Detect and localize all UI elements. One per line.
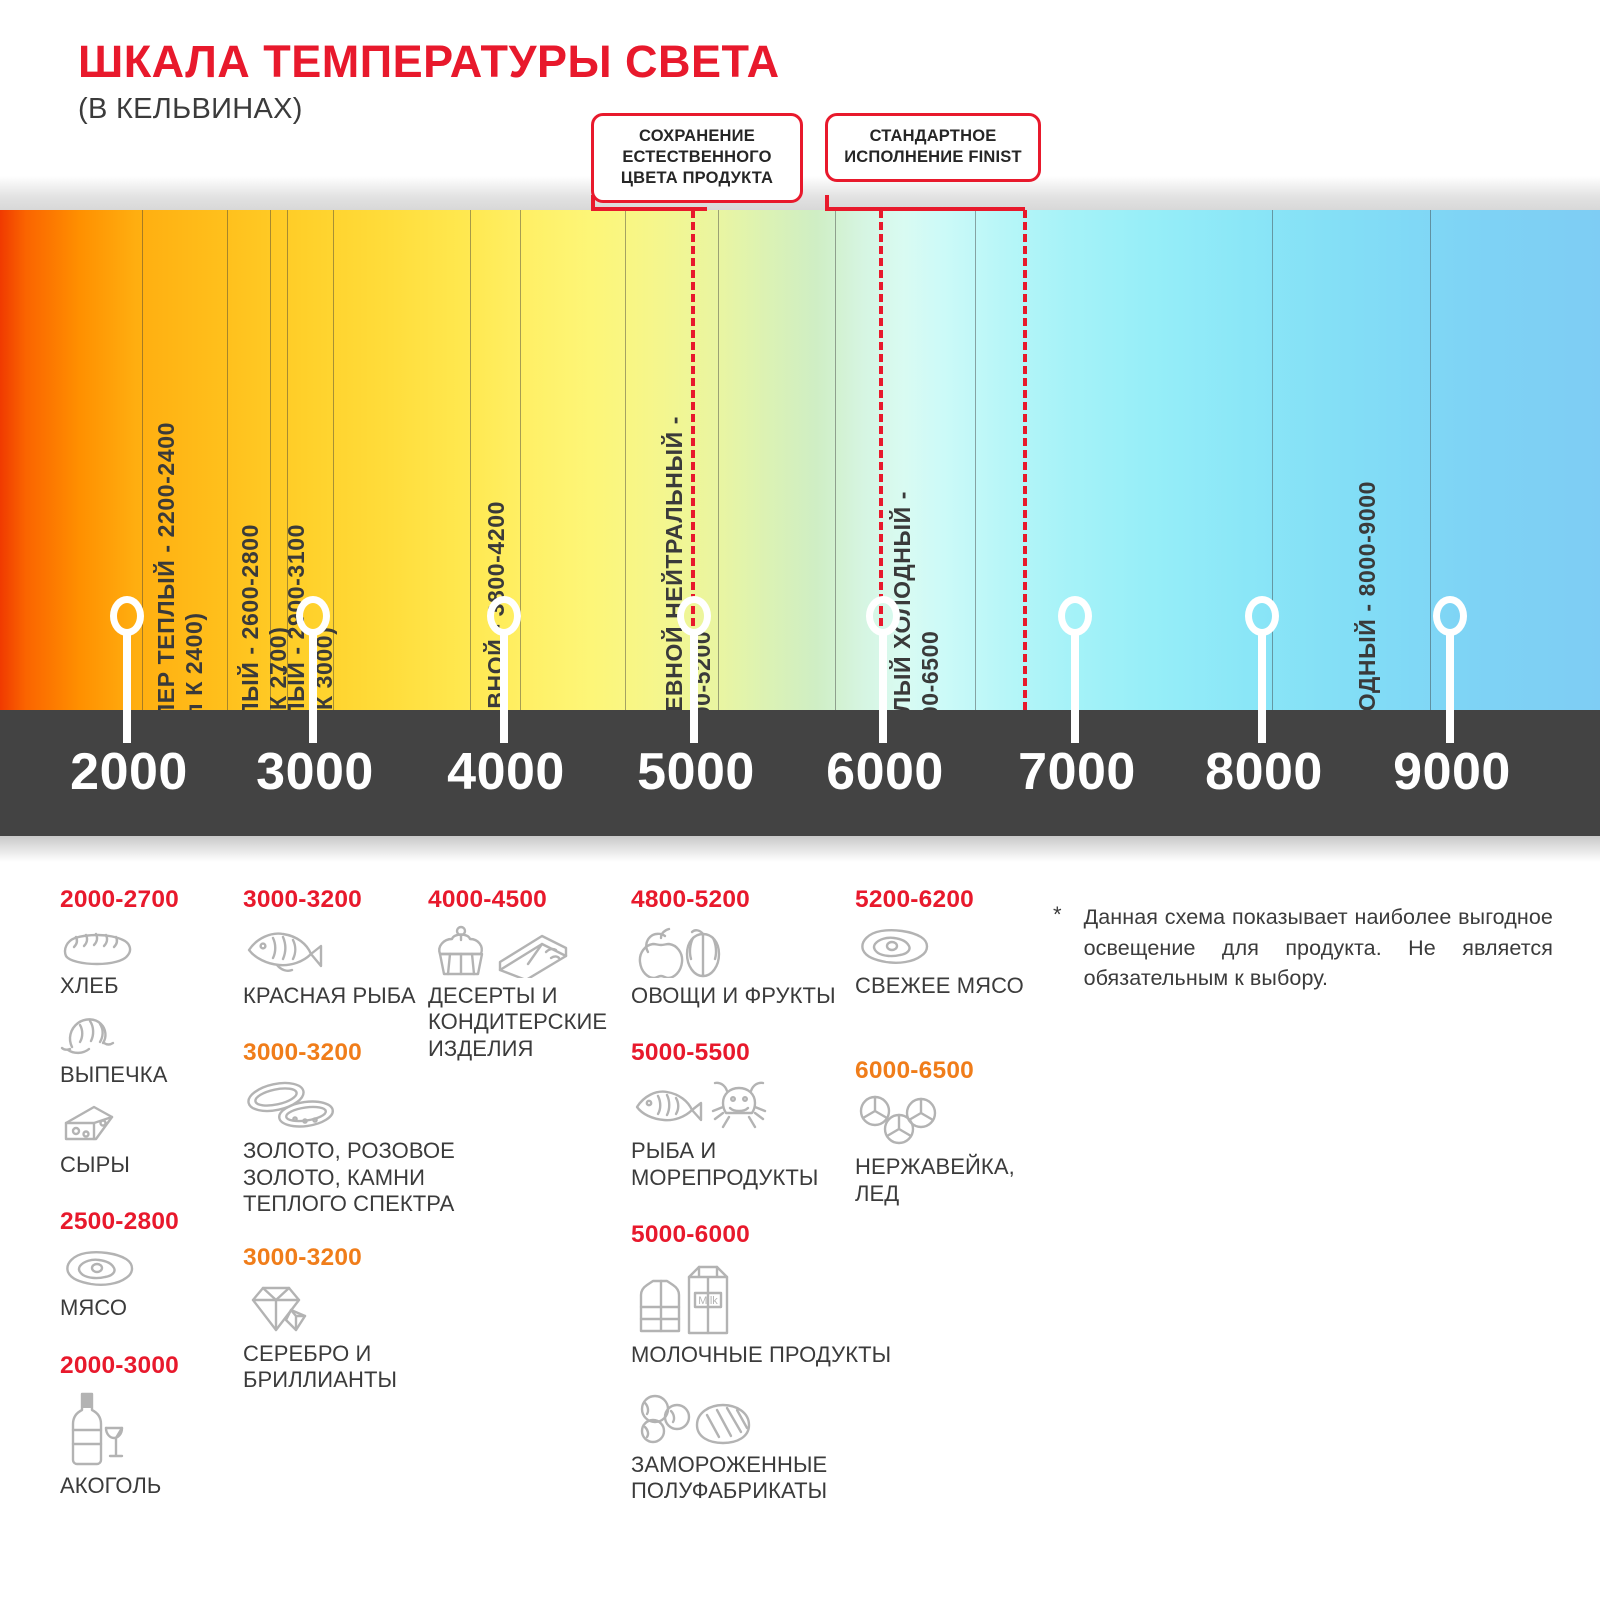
- band-divider: [1430, 210, 1431, 710]
- pin-ring: [487, 596, 521, 636]
- band-divider: [718, 210, 719, 710]
- scale-tick-9000: 9000: [1393, 742, 1511, 802]
- legend-group: 3000-3200 СЕРЕБРО И БРИЛЛИАНТЫ: [243, 1244, 418, 1394]
- callout-stem-left-bridge: [591, 207, 707, 211]
- item-label: АКОГОЛЬ: [60, 1473, 235, 1499]
- range-label: 5000-5500: [631, 1039, 853, 1067]
- range-label: 3000-3200: [243, 1039, 418, 1067]
- scale-pin-8000: [1245, 596, 1279, 743]
- pin-stem: [309, 633, 317, 743]
- scale-bottom-shadow: [0, 836, 1600, 862]
- scale-tick-4000: 4000: [447, 742, 565, 802]
- legend-group: 6000-6500 НЕРЖАВЕЙКА, ЛЕД: [855, 1057, 1045, 1207]
- legend-item: СВЕЖЕЕ МЯСО: [855, 922, 1045, 999]
- seafood-icon: [631, 1075, 853, 1133]
- dairy-icon: Milk: [631, 1257, 853, 1337]
- item-label: СЕРЕБРО И БРИЛЛИАНТЫ: [243, 1341, 443, 1394]
- steak-icon: [60, 1244, 235, 1290]
- pin-stem: [123, 633, 131, 743]
- dessert-icon: [428, 922, 628, 978]
- range-label: 3000-3200: [243, 886, 418, 914]
- scale-pin-7000: [1058, 596, 1092, 743]
- pin-stem: [500, 633, 508, 743]
- range-label: 4800-5200: [631, 886, 853, 914]
- fresh-meat-icon: [855, 922, 1045, 968]
- range-label: 6000-6500: [855, 1057, 1045, 1085]
- range-label: 3000-3200: [243, 1244, 418, 1272]
- legend-item: СЫРЫ: [60, 1101, 235, 1178]
- legend-column-5: 5200-6200 СВЕЖЕЕ МЯСО 6000-6500 НЕРЖАВЕЙ…: [855, 886, 1045, 1219]
- alcohol-icon: [60, 1388, 235, 1468]
- rings-icon: [243, 1075, 418, 1133]
- pin-stem: [1258, 633, 1266, 743]
- band-divider: [975, 210, 976, 710]
- fish-icon: [243, 922, 418, 978]
- range-label: 2000-3000: [60, 1352, 235, 1380]
- legend-group: 2000-3000 АКОГОЛЬ: [60, 1352, 235, 1499]
- item-label: ДЕСЕРТЫ И КОНДИТЕРСКИЕ ИЗДЕЛИЯ: [428, 983, 623, 1062]
- item-label: МЯСО: [60, 1295, 235, 1321]
- item-label: ОВОЩИ И ФРУКТЫ: [631, 983, 853, 1009]
- scale-pin-5000: [677, 596, 711, 743]
- range-label: 2500-2800: [60, 1208, 235, 1236]
- legend-item: НЕРЖАВЕЙКА, ЛЕД: [855, 1093, 1045, 1207]
- bread-icon: [60, 922, 235, 968]
- pin-stem: [690, 633, 698, 743]
- pin-ring: [296, 596, 330, 636]
- legend-item: ЗАМОРОЖЕННЫЕ ПОЛУФАБРИКАТЫ: [631, 1391, 853, 1505]
- legend-group: 3000-3200 ЗОЛОТО, РОЗОВОЕ ЗОЛОТО, КАМНИ …: [243, 1039, 418, 1217]
- scale-pin-4000: [487, 596, 521, 743]
- range-label: 5200-6200: [855, 886, 1045, 914]
- legend-group: 5200-6200 СВЕЖЕЕ МЯСО: [855, 886, 1045, 999]
- croissant-icon: [60, 1011, 235, 1057]
- range-label: 4000-4500: [428, 886, 628, 914]
- pin-stem: [1446, 633, 1454, 743]
- callout-standard-finist: СТАНДАРТНОЕ ИСПОЛНЕНИЕ FINIST: [825, 113, 1041, 182]
- item-label: НЕРЖАВЕЙКА, ЛЕД: [855, 1154, 1045, 1207]
- scale-number-band: [0, 710, 1600, 836]
- item-label: ЗОЛОТО, РОЗОВОЕ ЗОЛОТО, КАМНИ ТЕПЛОГО СП…: [243, 1138, 488, 1217]
- item-label: ХЛЕБ: [60, 973, 235, 999]
- scale-tick-2000: 2000: [70, 742, 188, 802]
- legend-item: МЯСО: [60, 1244, 235, 1321]
- item-label: ЗАМОРОЖЕННЫЕ ПОЛУФАБРИКАТЫ: [631, 1452, 861, 1505]
- scale-pin-3000: [296, 596, 330, 743]
- range-label: 5000-6000: [631, 1221, 853, 1249]
- item-label: СВЕЖЕЕ МЯСО: [855, 973, 1045, 999]
- legend-item: ЗОЛОТО, РОЗОВОЕ ЗОЛОТО, КАМНИ ТЕПЛОГО СП…: [243, 1075, 418, 1217]
- dashed-marker-standard-end: [1023, 210, 1027, 710]
- pin-ring: [1433, 596, 1467, 636]
- footnote-text: Данная схема показывает наиболее выгодно…: [1084, 902, 1553, 994]
- scale-tick-3000: 3000: [256, 742, 374, 802]
- legend-group: 4800-5200 ОВОЩИ И ФРУКТЫ: [631, 886, 853, 1009]
- legend-group: 3000-3200 КРАСНАЯ РЫБА: [243, 886, 418, 1009]
- legend-item: ДЕСЕРТЫ И КОНДИТЕРСКИЕ ИЗДЕЛИЯ: [428, 922, 628, 1062]
- legend-group: 2500-2800 МЯСО: [60, 1208, 235, 1321]
- legend-item: РЫБА И МОРЕПРОДУКТЫ: [631, 1075, 853, 1191]
- legend-item: Milk МОЛОЧНЫЕ ПРОДУКТЫ: [631, 1257, 853, 1368]
- temperature-scale: СУПЕР ТЕПЛЫЙ - 2200-2400(тип К 2400) ТЕП…: [0, 176, 1600, 872]
- page-title: ШКАЛА ТЕМПЕРАТУРЫ СВЕТА: [78, 38, 780, 85]
- legend-column-1: 2000-2700 ХЛЕБ ВЫПЕЧКА СЫРЫ 25: [60, 886, 235, 1511]
- item-label: СЫРЫ: [60, 1152, 235, 1178]
- band-divider: [835, 210, 836, 710]
- fruit-veg-icon: [631, 922, 853, 978]
- scale-tick-6000: 6000: [826, 742, 944, 802]
- pin-ring: [1245, 596, 1279, 636]
- legend-item: АКОГОЛЬ: [60, 1388, 235, 1499]
- scale-pin-6000: [866, 596, 900, 743]
- ice-cubes-icon: [855, 1093, 1045, 1149]
- pin-ring: [110, 596, 144, 636]
- pin-stem: [879, 633, 887, 743]
- svg-text:Milk: Milk: [698, 1295, 718, 1307]
- scale-pin-2000: [110, 596, 144, 743]
- legend-group: 5000-6000 Milk МОЛОЧНЫЕ ПРОДУКТЫ ЗАМОРОЖ…: [631, 1221, 853, 1504]
- legend-item: ВЫПЕЧКА: [60, 1011, 235, 1088]
- item-label: РЫБА И МОРЕПРОДУКТЫ: [631, 1138, 853, 1191]
- scale-tick-7000: 7000: [1018, 742, 1136, 802]
- band-divider: [625, 210, 626, 710]
- frozen-food-icon: [631, 1391, 853, 1447]
- legend-item: ХЛЕБ: [60, 922, 235, 999]
- pin-ring: [1058, 596, 1092, 636]
- band-label-super-warm: СУПЕР ТЕПЛЫЙ - 2200-2400(тип К 2400): [152, 422, 208, 752]
- band-divider: [470, 210, 471, 710]
- legend-item: СЕРЕБРО И БРИЛЛИАНТЫ: [243, 1280, 418, 1394]
- legend-item: ОВОЩИ И ФРУКТЫ: [631, 922, 853, 1009]
- scale-tick-5000: 5000: [637, 742, 755, 802]
- pin-ring: [677, 596, 711, 636]
- band-divider: [227, 210, 228, 710]
- range-label: 2000-2700: [60, 886, 235, 914]
- legend-group: 4000-4500 ДЕСЕРТЫ И КОНДИТЕРСКИЕ ИЗДЕЛИЯ: [428, 886, 628, 1062]
- legend-item: КРАСНАЯ РЫБА: [243, 922, 418, 1009]
- legend-group: 5000-5500 РЫБА И МОРЕПРОДУКТЫ: [631, 1039, 853, 1191]
- callout-stem-right-bridge: [825, 207, 1025, 211]
- item-label: КРАСНАЯ РЫБА: [243, 983, 418, 1009]
- pin-stem: [1071, 633, 1079, 743]
- legend-group: 2000-2700 ХЛЕБ ВЫПЕЧКА СЫРЫ: [60, 886, 235, 1178]
- legend-column-2: 3000-3200 КРАСНАЯ РЫБА 3000-3200 ЗОЛОТО,…: [243, 886, 418, 1405]
- diamond-icon: [243, 1280, 418, 1336]
- pin-ring: [866, 596, 900, 636]
- callout-preserve-natural-color: СОХРАНЕНИЕ ЕСТЕСТВЕННОГО ЦВЕТА ПРОДУКТА: [591, 113, 803, 203]
- footnote: * Данная схема показывает наиболее выгод…: [1053, 902, 1553, 994]
- item-label: МОЛОЧНЫЕ ПРОДУКТЫ: [631, 1342, 853, 1368]
- cheese-icon: [60, 1101, 235, 1147]
- legend-column-4: 4800-5200 ОВОЩИ И ФРУКТЫ 5000-5500 РЫБА …: [631, 886, 853, 1516]
- scale-pin-9000: [1433, 596, 1467, 743]
- scale-tick-8000: 8000: [1205, 742, 1323, 802]
- footnote-marker: *: [1053, 902, 1062, 994]
- item-label: ВЫПЕЧКА: [60, 1062, 235, 1088]
- legend-column-3: 4000-4500 ДЕСЕРТЫ И КОНДИТЕРСКИЕ ИЗДЕЛИЯ: [428, 886, 628, 1074]
